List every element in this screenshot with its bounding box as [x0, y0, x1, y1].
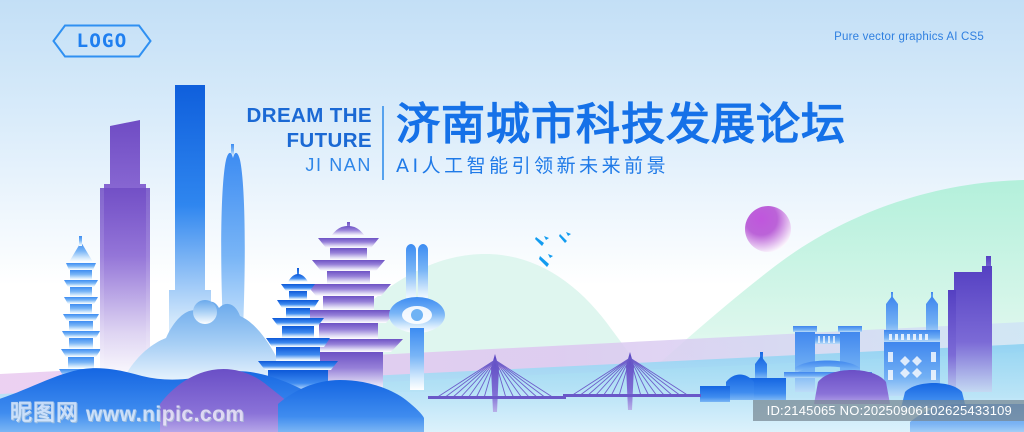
poster-canvas: LOGO Pure vector graphics AI CS5 DREAM T…	[0, 0, 1024, 432]
vector-graphics-note: Pure vector graphics AI CS5	[834, 31, 984, 43]
skyline-illustration	[0, 0, 1024, 432]
sun-circle	[745, 206, 791, 252]
birds-flock	[535, 232, 571, 267]
english-title-line-1: DREAM THE	[232, 103, 372, 128]
title-divider	[382, 106, 384, 180]
chinese-title-block: 济南城市科技发展论坛 AI人工智能引领新未来前景	[396, 100, 846, 178]
subtitle: AI人工智能引领新未来前景	[396, 154, 846, 178]
watermark-site-name: 昵图网	[10, 403, 79, 425]
main-title: 济南城市科技发展论坛	[396, 100, 846, 150]
english-title-block: DREAM THE FUTURE JI NAN	[232, 103, 372, 178]
site-watermark: 昵图网 www.nipic.com	[10, 403, 245, 425]
english-title-line-3: JI NAN	[232, 153, 372, 178]
tv-tower-eye-pupil	[411, 309, 423, 321]
hill-rock-knob	[193, 300, 217, 324]
watermark-site-url: www.nipic.com	[86, 404, 245, 425]
asset-id-bar: ID:2145065 NO:20250906102625433109	[753, 400, 1024, 421]
purple-skyscraper-base	[100, 188, 150, 382]
logo-text: LOGO	[77, 32, 128, 51]
english-title-line-2: FUTURE	[232, 128, 372, 153]
modern-tower-right	[948, 256, 992, 398]
logo-badge[interactable]: LOGO	[52, 24, 152, 58]
